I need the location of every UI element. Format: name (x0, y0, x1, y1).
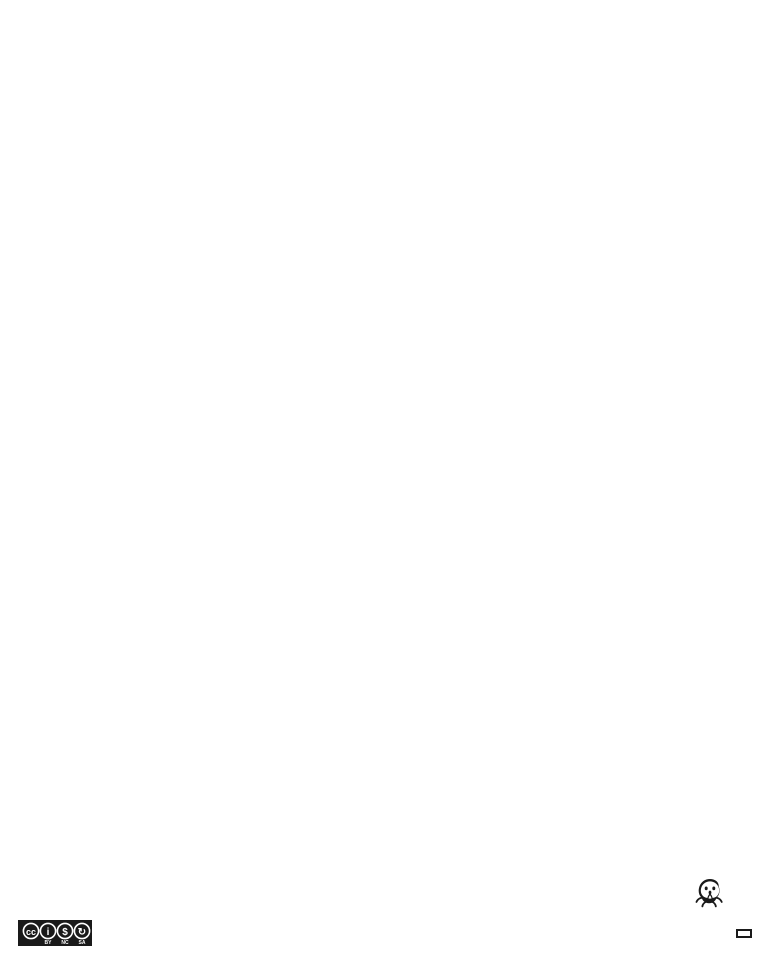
svg-text:SA: SA (79, 940, 86, 946)
kicker-label (18, 0, 752, 16)
header (18, 0, 752, 16)
footer: cc i $ ↻ BY NC SA (18, 920, 752, 946)
svg-text:i: i (47, 927, 50, 938)
footer-right (727, 929, 752, 938)
major-hurricane-note (18, 28, 752, 49)
svg-text:↻: ↻ (78, 927, 86, 938)
svg-text:BY: BY (45, 940, 53, 946)
al-jazeera-wordmark (736, 929, 752, 938)
svg-text:NC: NC (61, 940, 69, 946)
svg-text:$: $ (62, 927, 68, 938)
svg-text:cc: cc (26, 927, 36, 937)
footer-left: cc i $ ↻ BY NC SA (18, 920, 150, 946)
creative-commons-icon: cc i $ ↻ BY NC SA (18, 920, 92, 946)
al-jazeera-logo-icon (690, 878, 730, 912)
infographic-page: cc i $ ↻ BY NC SA (0, 0, 770, 962)
